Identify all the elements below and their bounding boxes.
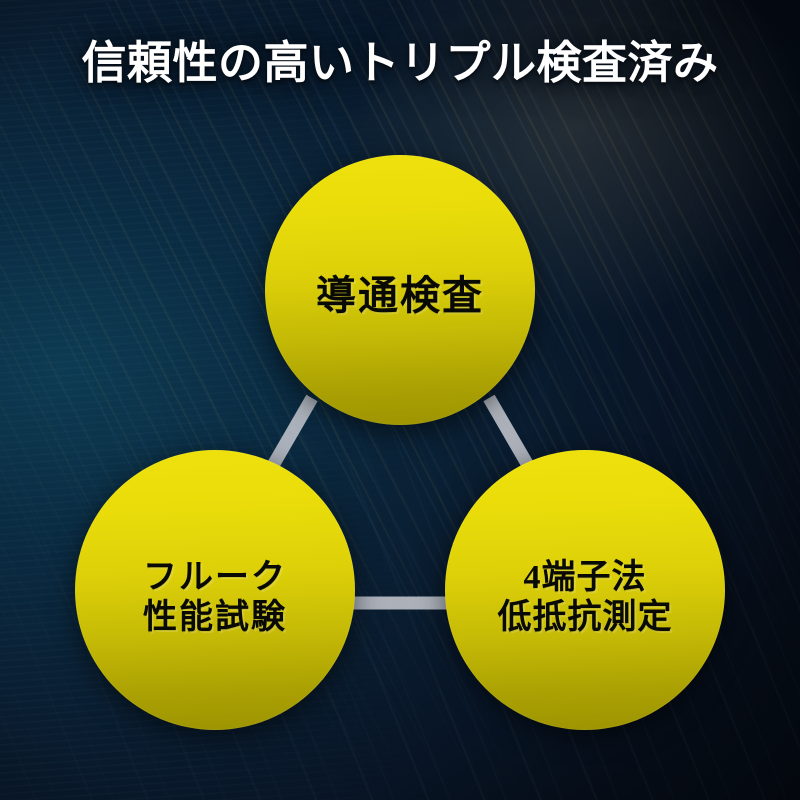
node-label-line: 低抵抗測定 [498, 598, 673, 638]
node-continuity-inspection[interactable]: 導通検査 [265, 155, 535, 425]
node-continuity-inspection-label: 導通検査 [316, 272, 484, 319]
node-label-line: 性能試験 [143, 598, 287, 638]
node-label-line: 4端子法 [498, 558, 673, 598]
node-fluke-performance-test-label: フルーク 性能試験 [143, 558, 287, 638]
node-four-terminal-low-resistance-label: 4端子法 低抵抗測定 [498, 558, 673, 638]
node-fluke-performance-test[interactable]: フルーク 性能試験 [75, 450, 355, 730]
infographic-canvas: 信頼性の高いトリプル検査済み 導通検査 フルーク 性能試験 4端子法 低抵抗測定 [0, 0, 800, 800]
node-four-terminal-low-resistance[interactable]: 4端子法 低抵抗測定 [445, 450, 725, 730]
node-label-line: 導通検査 [316, 272, 484, 319]
node-label-line: フルーク [143, 558, 287, 598]
